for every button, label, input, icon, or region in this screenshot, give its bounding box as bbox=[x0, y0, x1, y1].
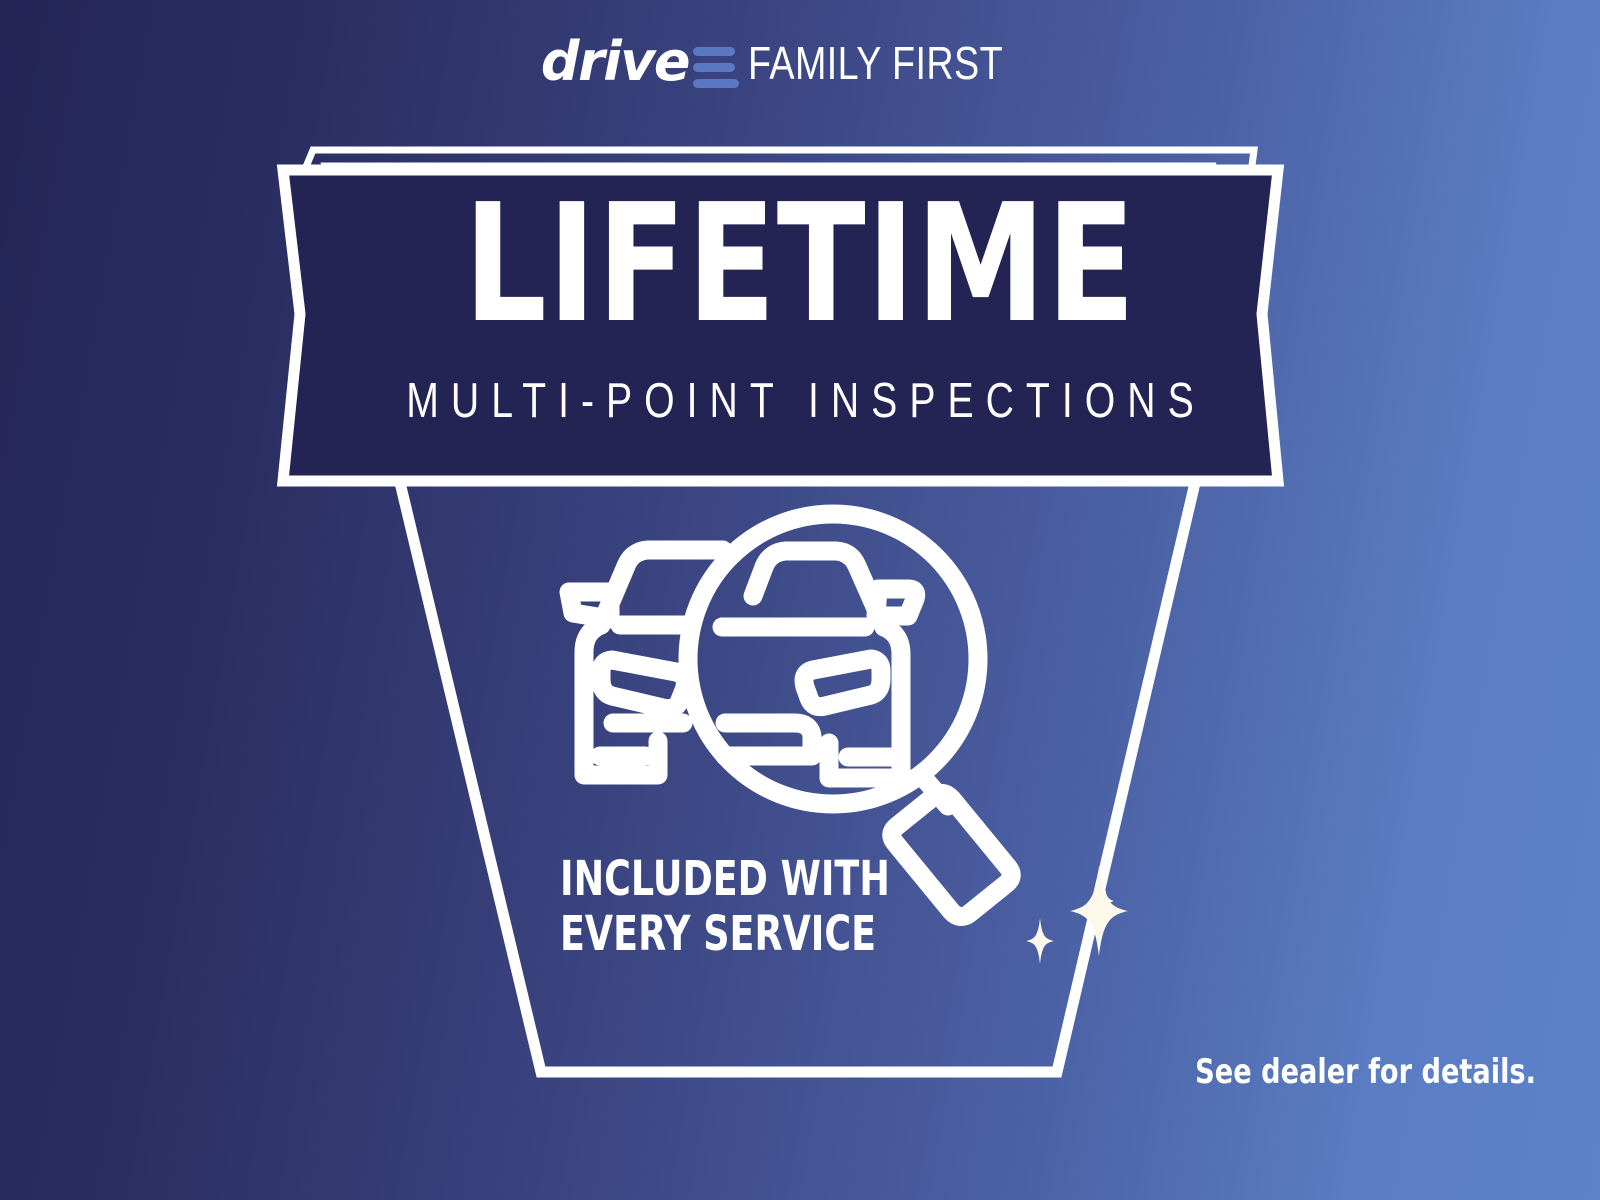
disclaimer-text: See dealer for details. bbox=[1195, 1054, 1536, 1091]
included-line-1: INCLUDED WITH bbox=[560, 851, 890, 907]
car-front-icon bbox=[569, 550, 916, 778]
brand-tagline: FAMILY FIRST bbox=[748, 40, 1003, 86]
brand-lockup: drive FAMILY FIRST bbox=[0, 28, 1600, 98]
included-with-every-service-text: INCLUDED WITH EVERY SERVICE bbox=[560, 852, 890, 962]
sparkle-icon bbox=[1096, 885, 1114, 917]
page-title: LIFETIME bbox=[160, 183, 1440, 346]
brand-wordmark: drive bbox=[541, 35, 689, 89]
page-subtitle: MULTI-POINT INSPECTIONS bbox=[160, 377, 1440, 426]
sparkle-icon bbox=[1026, 918, 1054, 964]
sparkle-icon bbox=[1070, 866, 1128, 956]
included-line-2: EVERY SERVICE bbox=[560, 907, 890, 962]
magnifying-glass-icon bbox=[688, 514, 978, 804]
three-bars-icon bbox=[693, 47, 739, 88]
poster-canvas: drive FAMILY FIRST LIFETIME MULTI-POINT … bbox=[0, 0, 1600, 1200]
